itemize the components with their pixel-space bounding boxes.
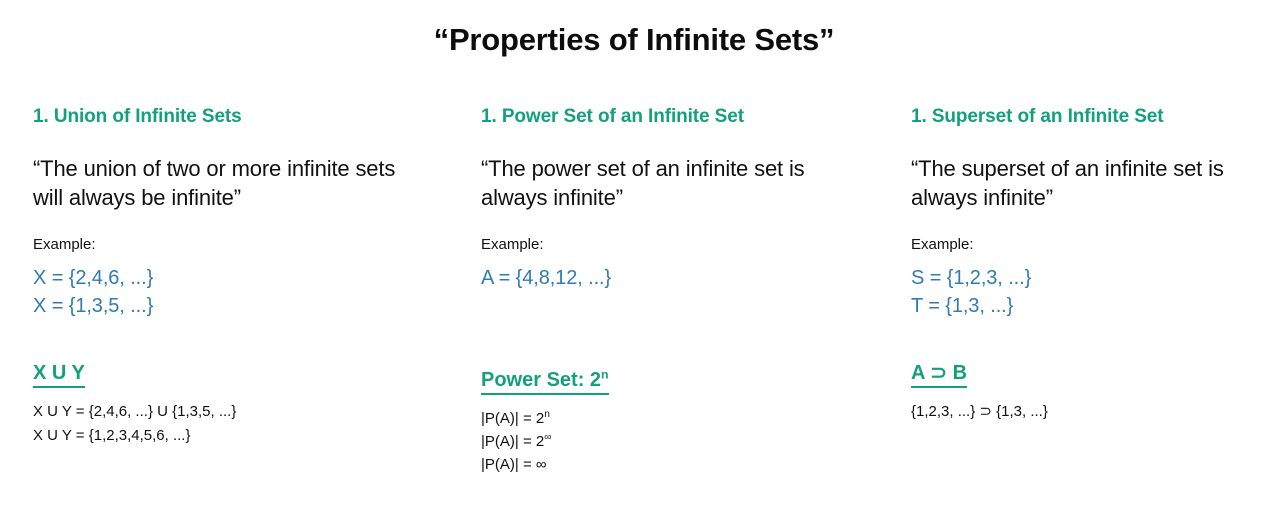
result-heading-text: Power Set: 2 xyxy=(481,369,601,391)
column-power-set: 1. Power Set of an Infinite Set “The pow… xyxy=(442,106,852,476)
set-line: X = {2,4,6, ...} xyxy=(33,265,430,293)
equation-line: X U Y = {1,2,3,4,5,6, ...} xyxy=(33,424,430,447)
result-heading-text: X U Y xyxy=(33,362,85,384)
column-union: 1. Union of Infinite Sets “The union of … xyxy=(0,106,442,447)
equation-line: {1,2,3, ...} ⊃ {1,3, ...} xyxy=(911,400,1256,423)
result-heading-superscript: n xyxy=(601,367,609,381)
statement-union: “The union of two or more infinite sets … xyxy=(33,154,430,212)
page-title: “Properties of Infinite Sets” xyxy=(0,22,1268,58)
equation-list-union: X U Y = {2,4,6, ...} U {1,3,5, ...} X U … xyxy=(33,400,430,447)
result-heading-text: A ⊃ B xyxy=(911,362,967,384)
set-line: S = {1,2,3, ...} xyxy=(911,265,1256,293)
equation-base: |P(A)| = 2 xyxy=(481,410,544,427)
equation-line: X U Y = {2,4,6, ...} U {1,3,5, ...} xyxy=(33,400,430,423)
column-heading-union: 1. Union of Infinite Sets xyxy=(33,106,430,128)
equation-base: |P(A)| = ∞ xyxy=(481,456,547,473)
set-line: X = {1,3,5, ...} xyxy=(33,293,430,321)
statement-power-set: “The power set of an infinite set is alw… xyxy=(481,154,840,212)
example-label-union: Example: xyxy=(33,236,430,253)
column-heading-superset: 1. Superset of an Infinite Set xyxy=(911,106,1256,128)
equation-line: |P(A)| = 2n xyxy=(481,407,840,430)
column-superset: 1. Superset of an Infinite Set “The supe… xyxy=(852,106,1268,424)
equation-superscript: ∞ xyxy=(544,432,551,443)
set-line: A = {4,8,12, ...} xyxy=(481,265,840,293)
set-list-superset: S = {1,2,3, ...} T = {1,3, ...} xyxy=(911,265,1256,320)
set-list-union: X = {2,4,6, ...} X = {1,3,5, ...} xyxy=(33,265,430,320)
equation-line: |P(A)| = 2∞ xyxy=(481,430,840,453)
result-heading-superset: A ⊃ B xyxy=(911,362,967,388)
equation-line: |P(A)| = ∞ xyxy=(481,453,840,476)
example-label-power-set: Example: xyxy=(481,236,840,253)
equation-base: |P(A)| = 2 xyxy=(481,433,544,450)
layout-spacer xyxy=(481,307,840,341)
set-list-power-set: A = {4,8,12, ...} xyxy=(481,265,840,293)
equation-list-superset: {1,2,3, ...} ⊃ {1,3, ...} xyxy=(911,400,1256,423)
equation-superscript: n xyxy=(544,409,550,420)
equation-list-power-set: |P(A)| = 2n |P(A)| = 2∞ |P(A)| = ∞ xyxy=(481,407,840,477)
statement-superset: “The superset of an infinite set is alwa… xyxy=(911,154,1256,212)
set-line: T = {1,3, ...} xyxy=(911,293,1256,321)
result-heading-power-set: Power Set: 2n xyxy=(481,369,609,395)
column-heading-power-set: 1. Power Set of an Infinite Set xyxy=(481,106,840,128)
result-heading-union: X U Y xyxy=(33,362,85,388)
example-label-superset: Example: xyxy=(911,236,1256,253)
columns-container: 1. Union of Infinite Sets “The union of … xyxy=(0,106,1268,476)
slide-canvas: “Properties of Infinite Sets” 1. Union o… xyxy=(0,0,1268,518)
